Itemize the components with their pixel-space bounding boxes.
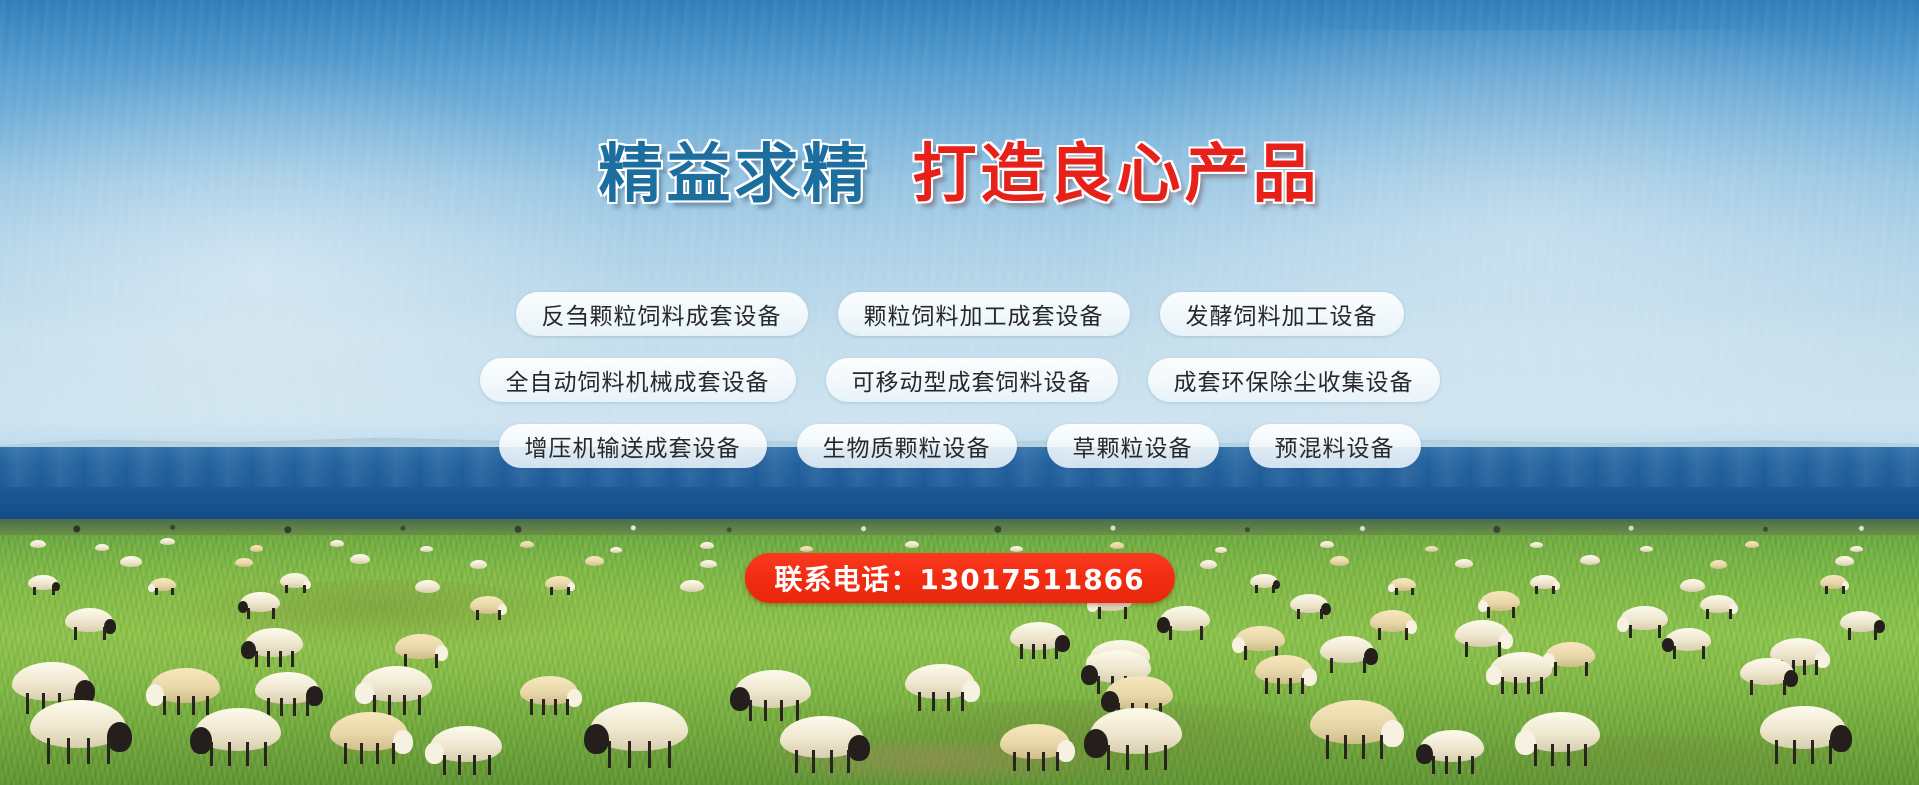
sheep-leg — [550, 587, 553, 595]
sheep-head — [584, 724, 609, 754]
sheep — [780, 716, 864, 758]
sheep-leg — [1405, 628, 1408, 640]
sheep-leg — [247, 608, 250, 619]
sheep — [330, 712, 408, 751]
sheep — [1370, 610, 1414, 632]
sheep-leg — [1658, 625, 1661, 638]
sheep-leg — [628, 741, 631, 768]
sheep — [12, 662, 90, 701]
sheep-leg — [458, 755, 461, 775]
sheep — [360, 666, 432, 702]
sheep-leg — [1803, 660, 1806, 675]
sheep-leg — [648, 741, 651, 768]
sheep-leg — [498, 610, 501, 620]
sheep-leg — [918, 692, 921, 711]
sheep-leg — [26, 693, 29, 714]
sheep-leg — [1363, 658, 1366, 673]
sheep-leg — [947, 692, 950, 711]
sheep — [680, 580, 704, 592]
sheep-leg — [1169, 626, 1172, 640]
sheep — [330, 540, 344, 547]
sheep-leg — [303, 585, 306, 593]
sheep-leg — [1514, 677, 1517, 694]
sheep — [1105, 676, 1173, 710]
sheep-leg — [388, 695, 391, 715]
sheep — [1530, 542, 1543, 548]
sheep-head — [730, 687, 750, 711]
sheep-leg — [1706, 609, 1709, 619]
sheep-leg — [306, 698, 309, 716]
sheep — [120, 556, 142, 567]
sheep-leg — [1498, 642, 1501, 657]
sheep-leg — [1540, 677, 1543, 694]
sheep-leg — [1097, 676, 1100, 694]
sheep — [1620, 606, 1668, 630]
sheep-head — [1157, 617, 1170, 633]
sheep-head — [1617, 617, 1629, 632]
sheep-leg — [932, 692, 935, 711]
sheep-leg — [1552, 586, 1555, 594]
product-category-row-3: 增压机输送成套设备 生物质颗粒设备 草颗粒设备 预混料设备 — [0, 424, 1919, 468]
sheep — [610, 547, 622, 553]
sheep-leg — [255, 651, 258, 667]
sheep-head — [1302, 668, 1317, 686]
sheep — [1010, 546, 1023, 552]
sheep-leg — [1874, 628, 1877, 640]
sheep — [1455, 620, 1509, 647]
sheep — [1310, 700, 1398, 744]
sheep-leg — [1297, 609, 1300, 619]
sheep-leg — [1815, 660, 1818, 675]
sheep-leg — [488, 755, 491, 775]
sheep-leg — [1289, 678, 1292, 694]
sheep-leg — [567, 587, 570, 595]
sheep-head — [1416, 744, 1433, 764]
sheep — [470, 596, 505, 614]
sheep-leg — [1098, 607, 1101, 619]
sheep — [1425, 546, 1438, 552]
sheep — [1330, 556, 1349, 566]
sheep-head — [1081, 665, 1098, 685]
sheep-leg — [67, 738, 70, 764]
sheep-leg — [1471, 756, 1474, 774]
sheep — [520, 676, 578, 705]
sheep-leg — [1842, 586, 1845, 594]
sheep-leg — [1027, 752, 1030, 771]
sheep-leg — [1056, 752, 1059, 771]
sheep-leg — [847, 750, 850, 773]
sheep-leg — [403, 695, 406, 715]
sheep-leg — [1702, 646, 1705, 659]
sheep-leg — [1535, 586, 1538, 594]
sheep-leg — [74, 627, 77, 640]
sheep-leg — [360, 743, 363, 764]
sheep-leg — [47, 738, 50, 764]
sheep-head — [107, 722, 132, 752]
sheep — [1255, 655, 1313, 684]
category-pill-biomass-pellet-equipment[interactable]: 生物质颗粒设备 — [797, 424, 1017, 468]
sheep — [800, 546, 813, 552]
sheep-leg — [1783, 680, 1786, 695]
sheep — [245, 628, 303, 657]
sheep — [1420, 730, 1484, 762]
sheep-leg — [1458, 756, 1461, 774]
product-category-row-1: 反刍颗粒饲料成套设备 颗粒饲料加工成套设备 发酵饲料加工设备 — [0, 292, 1919, 336]
sheep-leg — [344, 743, 347, 764]
page-title: 精益求精打造良心产品 — [0, 143, 1919, 207]
sheep-leg — [1055, 644, 1058, 659]
sheep-leg — [764, 700, 767, 721]
sheep — [415, 580, 440, 593]
sheep-leg — [210, 742, 213, 766]
sheep-leg — [171, 588, 174, 595]
promo-banner: 精益求精打造良心产品 反刍颗粒饲料成套设备 颗粒饲料加工成套设备 发酵饲料加工设… — [0, 0, 1919, 785]
sheep-leg — [1829, 740, 1832, 764]
sheep-leg — [376, 743, 379, 764]
sheep-head — [425, 742, 444, 764]
sheep — [395, 634, 445, 659]
sheep-head — [848, 735, 870, 761]
sheep-head — [355, 682, 374, 704]
sheep — [1545, 642, 1595, 667]
sheep — [1680, 579, 1705, 592]
sheep-leg — [52, 587, 55, 595]
sheep — [1760, 706, 1846, 749]
headline-blue-text: 精益求精 — [599, 138, 871, 212]
sheep-leg — [443, 755, 446, 775]
sheep-leg — [1551, 744, 1554, 766]
sheep-head — [393, 730, 413, 754]
sheep-leg — [1255, 585, 1258, 593]
sheep — [1520, 712, 1600, 752]
sheep-leg — [542, 699, 545, 715]
product-category-list: 反刍颗粒饲料成套设备 颗粒饲料加工成套设备 发酵饲料加工设备 全自动饲料机械成套… — [0, 292, 1919, 490]
grass-mound-left — [170, 580, 590, 650]
sheep-leg — [1362, 735, 1365, 759]
sheep-leg — [163, 696, 166, 715]
category-pill-fully-automatic-feed-machinery-complete-equipment[interactable]: 全自动饲料机械成套设备 — [480, 358, 796, 402]
sheep-leg — [795, 750, 798, 773]
sheep-leg — [272, 608, 275, 619]
sheep-leg — [1673, 646, 1676, 659]
sheep — [1480, 591, 1520, 611]
sheep-leg — [1512, 607, 1515, 618]
sheep — [280, 573, 309, 588]
sheep-leg — [1330, 658, 1333, 673]
sheep-head — [1830, 725, 1852, 752]
sheep-leg — [1301, 678, 1304, 694]
sheep-leg — [1277, 678, 1280, 694]
category-pill-mobile-complete-feed-equipment[interactable]: 可移动型成套饲料设备 — [826, 358, 1118, 402]
sheep — [1320, 636, 1374, 663]
sheep — [150, 578, 176, 591]
sheep-leg — [1124, 607, 1127, 619]
category-pill-booster-conveying-complete-equipment[interactable]: 增压机输送成套设备 — [499, 424, 767, 468]
sheep-head — [962, 680, 980, 702]
sheep-leg — [796, 700, 799, 721]
sheep-leg — [33, 587, 36, 595]
sheep — [1640, 546, 1653, 552]
sheep-leg — [1126, 745, 1129, 770]
sheep-leg — [435, 654, 438, 668]
sheep — [1665, 628, 1711, 651]
sheep — [1200, 560, 1217, 569]
sheep-leg — [1380, 735, 1383, 759]
sheep — [195, 708, 281, 751]
sheep — [255, 672, 319, 704]
sheep-leg — [291, 651, 294, 667]
category-pill-fermented-feed-processing-equipment[interactable]: 发酵饲料加工设备 — [1160, 292, 1404, 336]
sheep — [545, 576, 573, 590]
sheep — [1850, 546, 1863, 552]
sheep-leg — [1200, 626, 1203, 640]
sheep — [1840, 611, 1882, 632]
sheep-leg — [608, 741, 611, 768]
sheep — [160, 538, 175, 545]
sheep — [250, 545, 263, 552]
sheep-leg — [1020, 644, 1023, 659]
sheep-leg — [177, 696, 180, 715]
sheep — [1700, 595, 1736, 613]
sheep-leg — [668, 741, 671, 768]
sheep-leg — [264, 742, 267, 766]
sheep-leg — [1501, 677, 1504, 694]
sheep-leg — [1013, 752, 1016, 771]
sheep-head — [567, 689, 582, 707]
sheep-leg — [279, 651, 282, 667]
sheep-leg — [530, 699, 533, 715]
sheep-leg — [473, 755, 476, 775]
sheep — [470, 560, 487, 569]
category-pill-pellet-feed-processing-complete-equipment[interactable]: 颗粒饲料加工成套设备 — [838, 292, 1130, 336]
sheep — [1235, 626, 1285, 651]
sheep-head — [238, 601, 248, 613]
sheep-leg — [1811, 740, 1814, 764]
sheep-leg — [830, 750, 833, 773]
sheep-head — [1057, 740, 1075, 762]
sheep-head — [1381, 720, 1404, 747]
sheep-leg — [1554, 662, 1557, 676]
sheep-leg — [418, 695, 421, 715]
sheep-leg — [87, 738, 90, 764]
sheep-leg — [192, 696, 195, 715]
sheep-leg — [780, 700, 783, 721]
sheep — [1090, 708, 1182, 754]
sheep — [1455, 559, 1473, 568]
sheep-head — [241, 641, 256, 659]
sheep-leg — [1378, 628, 1381, 640]
sheep-head — [1515, 730, 1536, 755]
sheep-leg — [1265, 678, 1268, 694]
sheep-leg — [1793, 740, 1796, 764]
sheep — [735, 670, 811, 708]
sheep-leg — [1032, 644, 1035, 659]
sheep-leg — [554, 699, 557, 715]
sheep — [1390, 578, 1416, 591]
sheep-leg — [1164, 745, 1167, 770]
sheep — [65, 608, 113, 632]
sheep-leg — [1272, 585, 1275, 593]
sheep-leg — [1043, 644, 1046, 659]
sheep-leg — [1527, 677, 1530, 694]
sheep — [420, 546, 433, 552]
sheep-leg — [1534, 744, 1537, 766]
sheep-leg — [1729, 609, 1732, 619]
sheep — [1745, 541, 1759, 548]
category-pill-grass-pellet-equipment[interactable]: 草颗粒设备 — [1047, 424, 1219, 468]
sheep — [1710, 560, 1727, 569]
sheep — [28, 575, 58, 590]
sheep — [1740, 658, 1794, 685]
sheep-leg — [293, 698, 296, 716]
sheep — [1530, 575, 1558, 589]
sheep — [1010, 622, 1066, 650]
sheep-leg — [206, 696, 209, 715]
category-pill-premix-equipment[interactable]: 预混料设备 — [1249, 424, 1421, 468]
sheep — [95, 544, 109, 551]
sheep-head — [1478, 600, 1488, 612]
sheep-leg — [1326, 735, 1329, 759]
sheep — [350, 554, 370, 564]
sheep-leg — [1775, 740, 1778, 764]
sheep-leg — [1629, 625, 1632, 638]
sheep-leg — [1585, 662, 1588, 676]
sheep-leg — [1445, 756, 1448, 774]
sheep-leg — [1395, 588, 1398, 595]
sheep — [1110, 542, 1124, 549]
sheep — [585, 556, 604, 566]
sheep — [1000, 724, 1070, 759]
sheep — [700, 542, 714, 549]
sheep-leg — [1567, 744, 1570, 766]
sheep-leg — [267, 651, 270, 667]
sheep-leg — [1848, 628, 1851, 640]
category-pill-complete-environmental-dust-collection-equipment[interactable]: 成套环保除尘收集设备 — [1148, 358, 1440, 402]
sheep-leg — [1320, 609, 1323, 619]
sheep — [1290, 594, 1328, 613]
sheep-leg — [1244, 646, 1247, 660]
sheep — [1820, 575, 1847, 589]
sheep — [1835, 556, 1854, 566]
sheep-leg — [566, 699, 569, 715]
sheep-head — [1486, 666, 1502, 685]
sheep — [235, 558, 253, 567]
sheep-head — [1084, 729, 1108, 758]
sheep-leg — [1825, 586, 1828, 594]
sheep-leg — [1584, 744, 1587, 766]
sheep-leg — [1432, 756, 1435, 774]
category-pill-ruminant-pellet-feed-complete-equipment[interactable]: 反刍颗粒饲料成套设备 — [516, 292, 808, 336]
sheep — [520, 541, 534, 548]
sheep-leg — [1107, 745, 1110, 770]
sheep-head — [1101, 691, 1119, 712]
sheep — [1250, 574, 1278, 588]
sheep — [905, 541, 919, 548]
sheep-head — [146, 684, 164, 706]
sheep-leg — [267, 698, 270, 716]
sheep-leg — [961, 692, 964, 711]
sheep-leg — [155, 588, 158, 595]
sheep-leg — [1411, 588, 1414, 595]
sheep — [430, 726, 502, 762]
sheep-leg — [1487, 607, 1490, 618]
sheep-leg — [228, 742, 231, 766]
sheep-leg — [392, 743, 395, 764]
sheep — [1490, 652, 1552, 683]
sheep-leg — [280, 698, 283, 716]
sheep-leg — [246, 742, 249, 766]
sheep-leg — [285, 585, 288, 593]
headline-red-text: 打造良心产品 — [913, 138, 1321, 212]
sheep — [1580, 555, 1600, 565]
sheep-leg — [1145, 745, 1148, 770]
contact-phone-badge[interactable]: 联系电话：13017511866 — [744, 553, 1174, 603]
sheep — [1215, 547, 1227, 553]
sheep — [590, 702, 688, 751]
sheep — [1160, 606, 1210, 631]
sheep-leg — [749, 700, 752, 721]
product-category-row-2: 全自动饲料机械成套设备 可移动型成套饲料设备 成套环保除尘收集设备 — [0, 358, 1919, 402]
sheep-leg — [476, 610, 479, 620]
sheep — [905, 664, 975, 699]
sheep — [700, 560, 717, 568]
sheep-leg — [107, 738, 110, 764]
sheep — [30, 540, 46, 548]
sheep-leg — [1042, 752, 1045, 771]
sheep-leg — [1344, 735, 1347, 759]
sheep-head — [190, 727, 212, 754]
sheep-head — [1232, 637, 1245, 653]
sheep — [240, 592, 280, 612]
sheep-leg — [1750, 680, 1753, 695]
sheep — [30, 700, 126, 748]
sheep-leg — [103, 627, 106, 640]
sheep-leg — [812, 750, 815, 773]
sheep-leg — [1465, 642, 1468, 657]
sheep — [150, 668, 220, 703]
sheep — [1320, 541, 1334, 548]
